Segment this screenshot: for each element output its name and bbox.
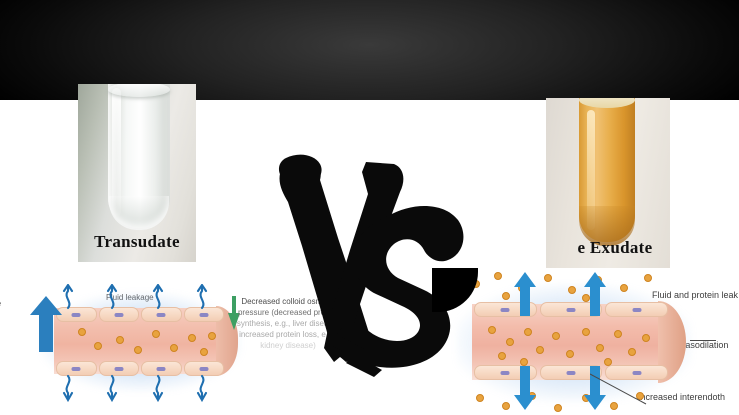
- cell-nucleus: [501, 371, 510, 375]
- cell-nucleus: [72, 313, 81, 317]
- extravasated-protein: [644, 274, 652, 282]
- exudate-tube-photo: e Exudate: [546, 98, 670, 268]
- protein-particle: [566, 350, 574, 358]
- exudate-caption-text: Exudate: [590, 238, 653, 257]
- increased-hydrostatic-pressure-arrow: [30, 296, 62, 352]
- extravasated-protein: [476, 394, 484, 402]
- protein-particle: [520, 358, 528, 366]
- cell-nucleus: [114, 367, 123, 371]
- protein-particle: [488, 326, 496, 334]
- fluid-leak-arrow-down-group: [54, 374, 232, 402]
- cell-nucleus: [114, 313, 123, 317]
- protein-particle: [208, 332, 216, 340]
- protein-particle: [498, 352, 506, 360]
- protein-particle: [536, 346, 544, 354]
- cell-nucleus: [567, 308, 576, 312]
- protein-particle: [614, 330, 622, 338]
- cell-nucleus: [501, 308, 510, 312]
- protein-particle: [596, 344, 604, 352]
- transudate-tube-photo: Transudate: [78, 84, 196, 262]
- fluid-leak-arrow-up-group: [54, 284, 232, 310]
- protein-particle: [188, 334, 196, 342]
- protein-particle: [116, 336, 124, 344]
- protein-particle: [628, 348, 636, 356]
- endothelial-cell: [605, 302, 668, 317]
- exudate-caption-prefix: e: [578, 238, 586, 257]
- vasodilation-leader-line: [690, 340, 716, 341]
- fluid-protein-leak-arrow-up: [584, 272, 606, 316]
- protein-particle: [582, 328, 590, 336]
- extravasated-protein: [502, 292, 510, 300]
- extravasated-protein: [568, 286, 576, 294]
- cell-nucleus: [199, 313, 208, 317]
- cell-nucleus: [72, 367, 81, 371]
- protein-particle: [134, 346, 142, 354]
- protein-particle: [604, 358, 612, 366]
- interendothelial-leader-line: [590, 372, 650, 406]
- protein-particle: [552, 332, 560, 340]
- protein-particle: [78, 328, 86, 336]
- transudate-vessel-diagram: [0, 278, 262, 415]
- extravasated-protein: [620, 284, 628, 292]
- endothelium-bottom: [56, 361, 224, 374]
- fluid-protein-leak-arrow-up: [514, 272, 536, 316]
- fluid-protein-leak-arrow-down: [514, 366, 536, 410]
- infographic-canvas: Transudate Exudate Transudate e Exudate: [0, 0, 739, 415]
- protein-particle: [170, 344, 178, 352]
- cell-nucleus: [157, 367, 166, 371]
- protein-particle: [642, 334, 650, 342]
- protein-particle: [94, 342, 102, 350]
- extravasated-protein: [502, 402, 510, 410]
- exudate-photo-caption: e Exudate: [546, 238, 670, 258]
- protein-particle: [200, 348, 208, 356]
- protein-particle: [524, 328, 532, 336]
- versus-graphic: [262, 150, 482, 380]
- cell-nucleus: [157, 313, 166, 317]
- extravasated-protein: [554, 404, 562, 412]
- extravasated-protein: [544, 274, 552, 282]
- protein-particle: [506, 338, 514, 346]
- cell-nucleus: [632, 308, 641, 312]
- extravasated-protein: [494, 272, 502, 280]
- cell-nucleus: [199, 367, 208, 371]
- endothelium-top: [474, 302, 668, 317]
- test-tube-clear-base: [109, 196, 169, 230]
- transudate-photo-caption: Transudate: [78, 232, 196, 252]
- protein-particle: [152, 330, 160, 338]
- cell-nucleus: [567, 371, 576, 375]
